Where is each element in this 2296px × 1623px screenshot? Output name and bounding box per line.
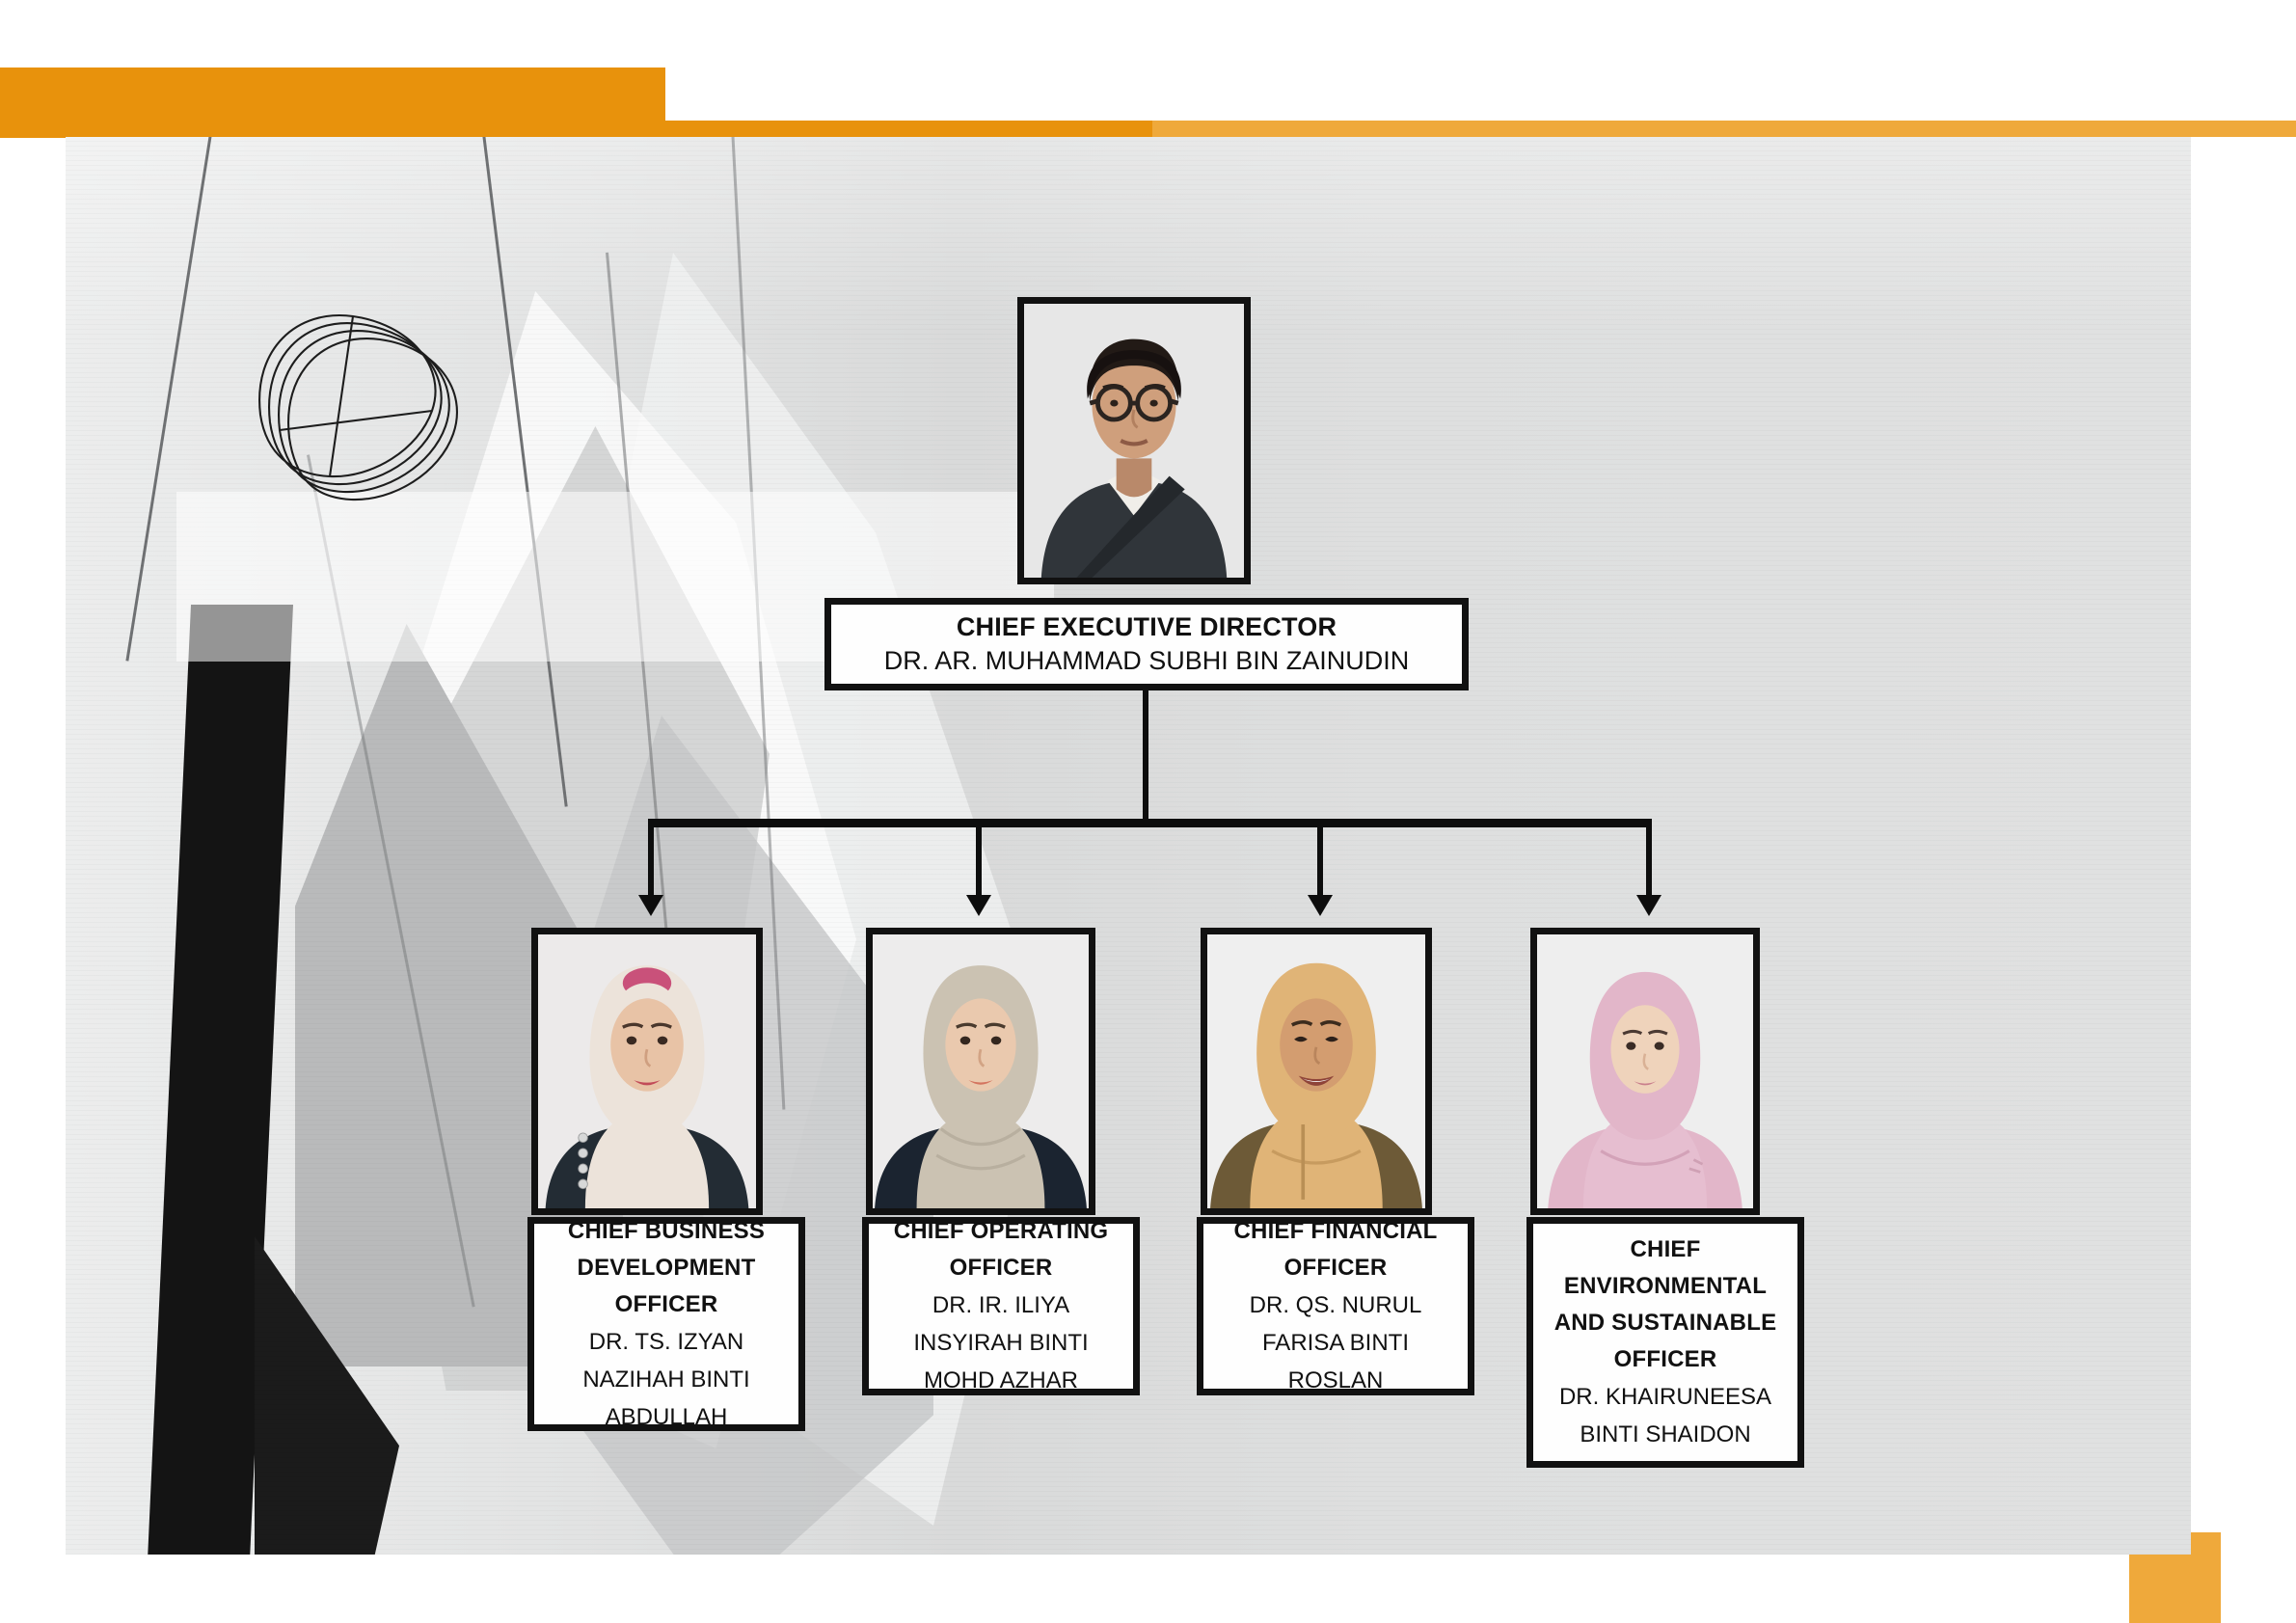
ceo-title: CHIEF EXECUTIVE DIRECTOR [957, 610, 1337, 643]
cbdo-name-line-1: DR. TS. IZYAN [589, 1323, 743, 1361]
node-chief-financial-officer[interactable]: CHIEF FINANCIAL OFFICER DR. QS. NURUL FA… [1197, 1217, 1474, 1395]
ceso-title-line-4: OFFICER [1614, 1341, 1717, 1378]
connector-horizontal-bus [648, 819, 1652, 827]
cfo-name-line-1: DR. QS. NURUL [1250, 1286, 1422, 1324]
ceso-name-line-1: DR. KHAIRUNEESA [1559, 1378, 1771, 1416]
arrow-head-3 [1308, 895, 1333, 916]
cbdo-title-line-2: DEVELOPMENT [578, 1250, 756, 1286]
slide-canvas: CHIEF EXECUTIVE DIRECTOR DR. AR. MUHAMMA… [0, 0, 2296, 1623]
connector-drop-2 [976, 826, 982, 904]
cbdo-name-line-3: ABDULLAH [606, 1398, 728, 1436]
ceso-title-line-1: CHIEF [1631, 1231, 1701, 1268]
ceso-name-line-2: BINTI SHAIDON [1580, 1416, 1750, 1453]
node-chief-environmental-and-sustainable-officer[interactable]: CHIEF ENVIRONMENTAL AND SUSTAINABLE OFFI… [1526, 1217, 1804, 1468]
cfo-name-line-2: FARISA BINTI [1262, 1324, 1409, 1362]
node-chief-operating-officer[interactable]: CHIEF OPERATING OFFICER DR. IR. ILIYA IN… [862, 1217, 1140, 1395]
cfo-title-line-2: OFFICER [1284, 1250, 1388, 1286]
coo-name-line-1: DR. IR. ILIYA [932, 1286, 1069, 1324]
coo-title-line-1: CHIEF OPERATING [894, 1213, 1109, 1250]
arrow-head-2 [966, 895, 991, 916]
cfo-title-line-1: CHIEF FINANCIAL [1234, 1213, 1438, 1250]
cbdo-name-line-2: NAZIHAH BINTI [582, 1361, 749, 1398]
photo-chief-environmental-and-sustainable-officer [1530, 928, 1760, 1215]
arrow-head-4 [1636, 895, 1661, 916]
org-chart: CHIEF EXECUTIVE DIRECTOR DR. AR. MUHAMMA… [0, 0, 2296, 1623]
coo-name-line-3: MOHD AZHAR [924, 1362, 1078, 1399]
arrow-head-1 [638, 895, 663, 916]
node-chief-business-development-officer[interactable]: CHIEF BUSINESS DEVELOPMENT OFFICER DR. T… [527, 1217, 805, 1431]
coo-name-line-2: INSYIRAH BINTI [913, 1324, 1088, 1362]
photo-chief-financial-officer [1201, 928, 1432, 1215]
photo-chief-executive-director [1017, 297, 1251, 584]
ceo-name: DR. AR. MUHAMMAD SUBHI BIN ZAINUDIN [884, 643, 1410, 678]
cbdo-title-line-3: OFFICER [615, 1286, 718, 1323]
node-chief-executive-director[interactable]: CHIEF EXECUTIVE DIRECTOR DR. AR. MUHAMMA… [824, 598, 1469, 690]
photo-chief-business-development-officer [531, 928, 763, 1215]
ceso-title-line-2: ENVIRONMENTAL [1564, 1268, 1767, 1305]
connector-drop-3 [1317, 826, 1323, 904]
photo-chief-operating-officer [866, 928, 1095, 1215]
connector-trunk [1143, 690, 1148, 824]
cbdo-title-line-1: CHIEF BUSINESS [568, 1213, 765, 1250]
connector-drop-1 [648, 826, 654, 904]
connector-drop-4 [1646, 826, 1652, 904]
ceso-title-line-3: AND SUSTAINABLE [1554, 1305, 1777, 1341]
coo-title-line-2: OFFICER [950, 1250, 1053, 1286]
cfo-name-line-3: ROSLAN [1288, 1362, 1384, 1399]
